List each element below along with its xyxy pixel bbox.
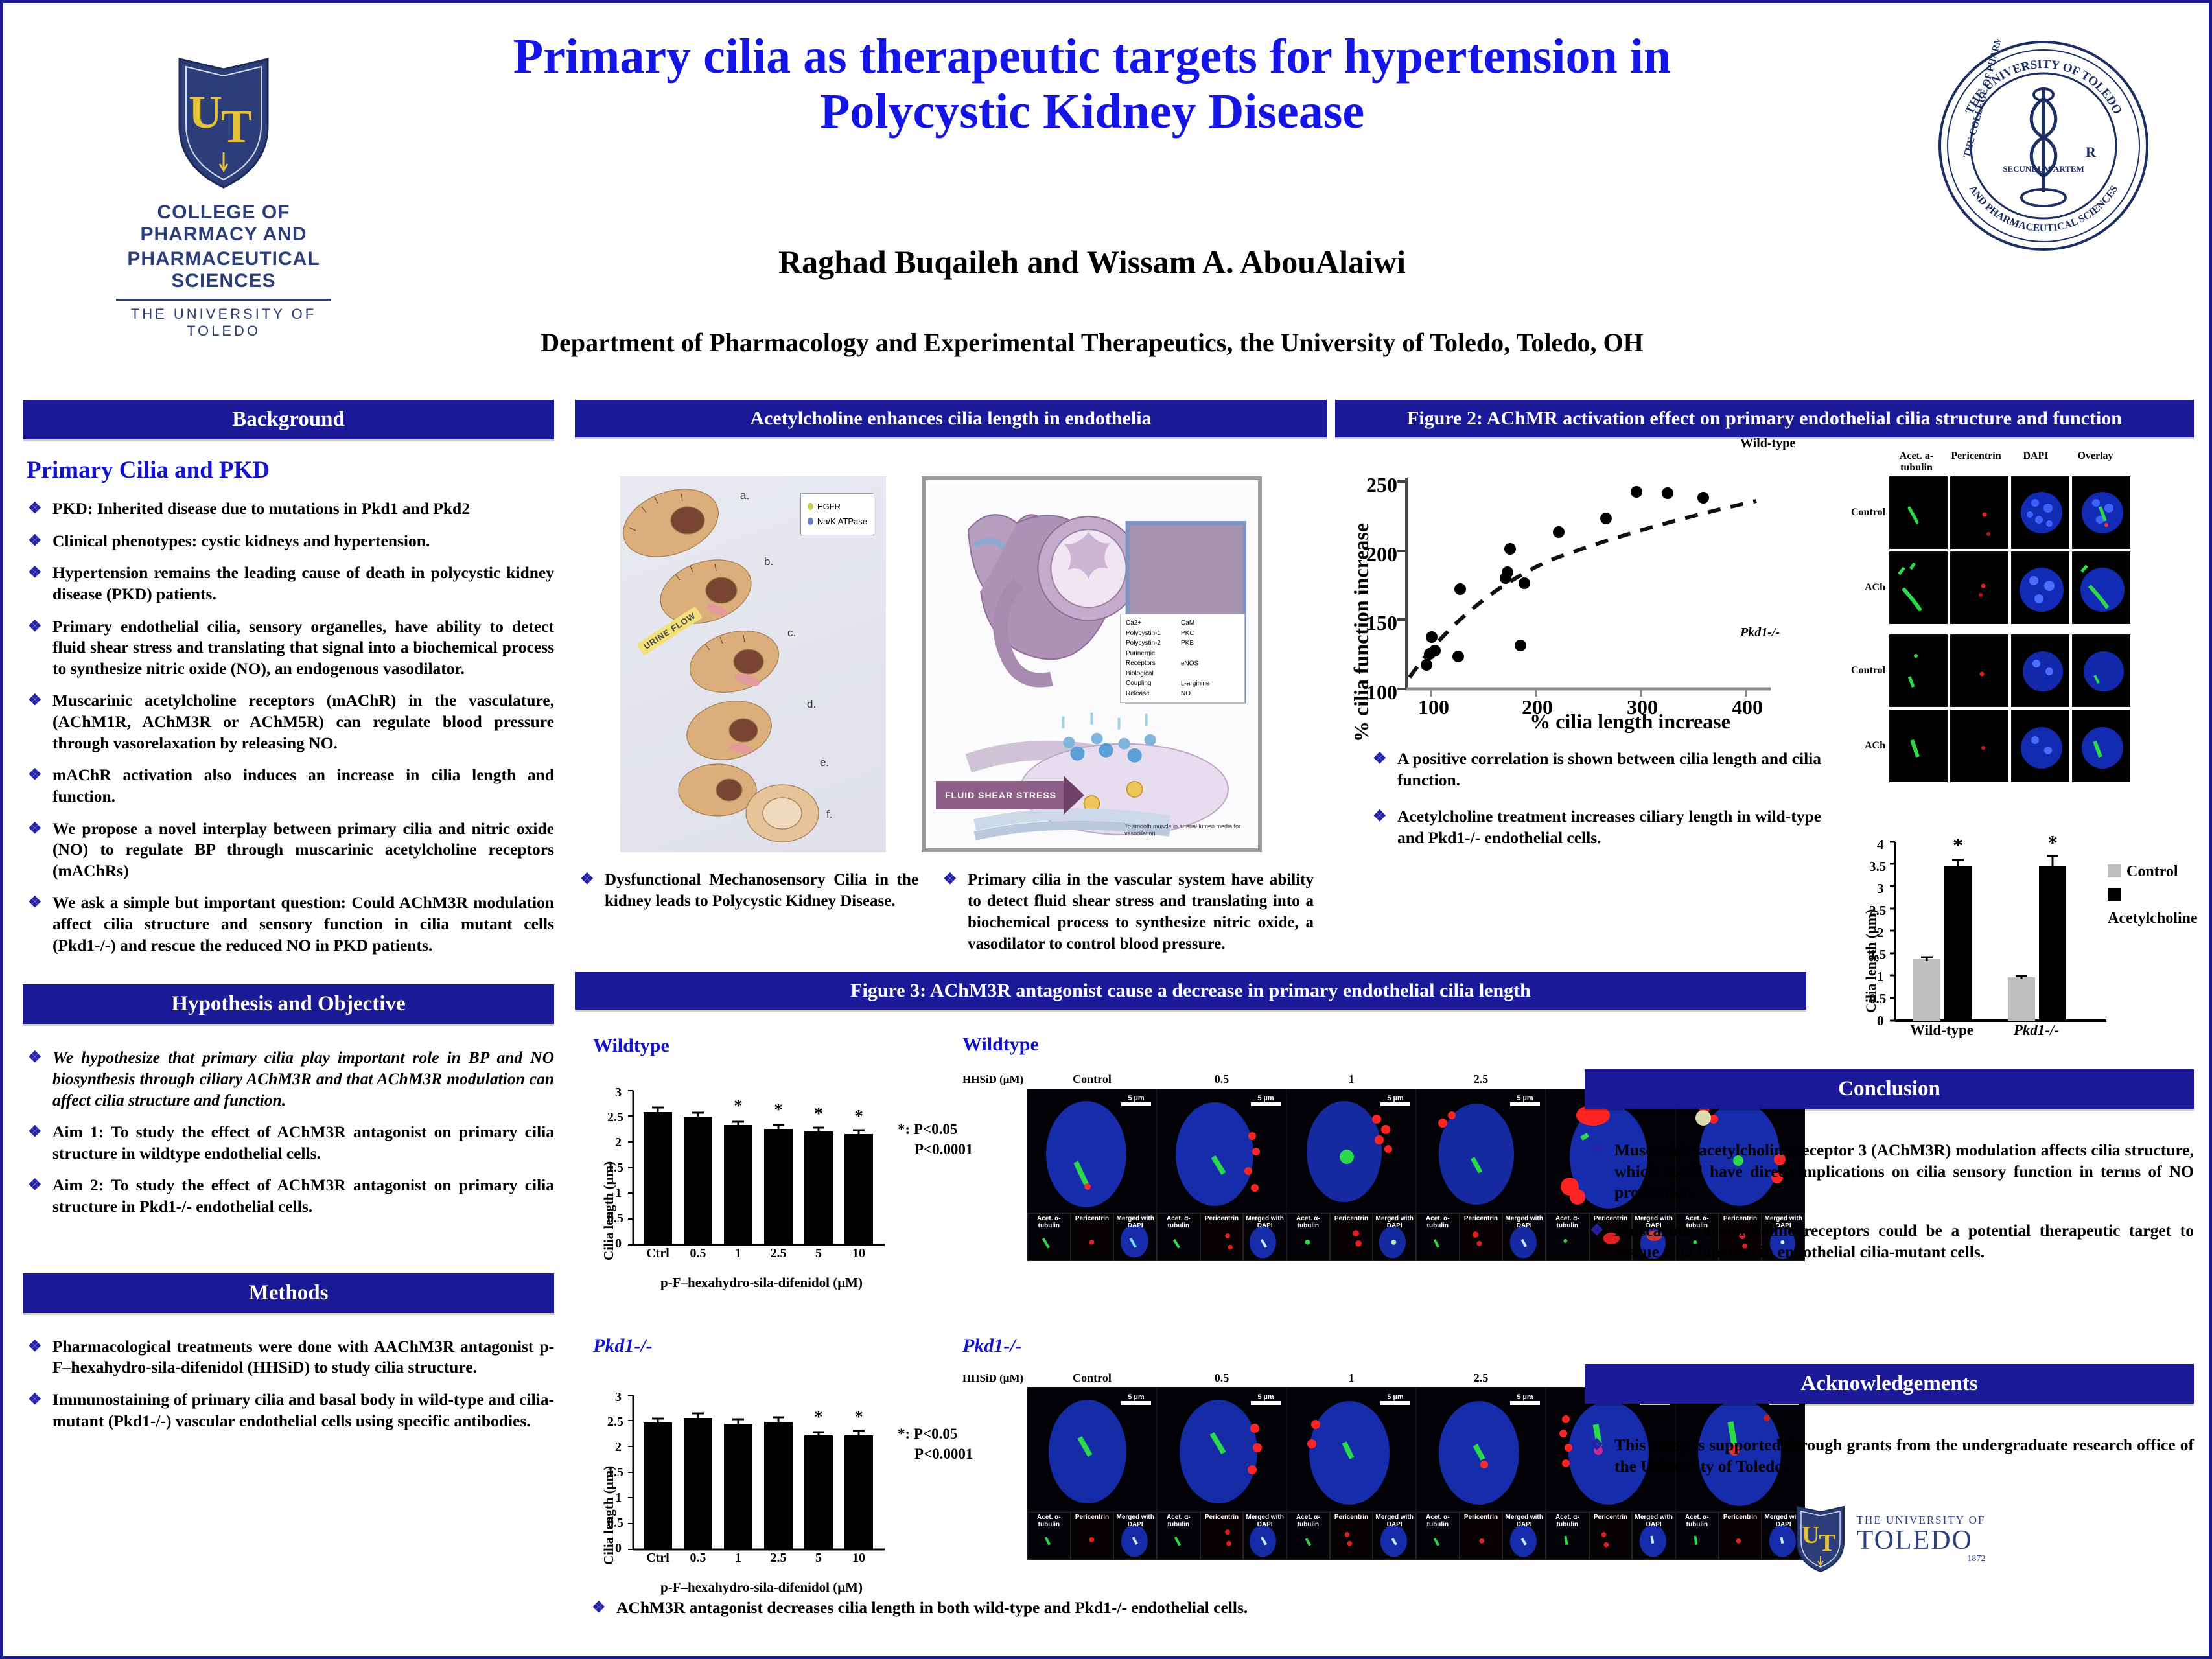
scale-bar: 5 µm (1380, 1393, 1410, 1405)
list-item: Acetylcholine treatment increases ciliar… (1368, 806, 1821, 848)
svg-text:U: U (189, 86, 222, 138)
vessel-caption-list: Primary cilia in the vascular system hav… (938, 869, 1314, 966)
fig2-row-pkd1-ach: ACh (1837, 710, 2136, 782)
svg-text:T: T (1819, 1529, 1835, 1557)
list-item: mAChR activation also induces an increas… (23, 765, 554, 807)
left-column: Background Primary Cilia and PKD PKD: In… (23, 400, 554, 1443)
fig3-pkd1-label: Pkd1-/- (593, 1335, 653, 1357)
bullet-text: Acetylcholine treatment increases ciliar… (1397, 807, 1821, 847)
diamond-bullet-icon (28, 535, 41, 548)
college-line1: COLLEGE OF PHARMACY AND (107, 202, 340, 246)
kidney-caption-list: Dysfunctional Mechanosensory Cilia in th… (575, 869, 918, 966)
fig3-micro-wt-label: Wildtype (962, 1034, 1831, 1056)
subpanel-tubulin: Acet. α-tubulin (1286, 1512, 1330, 1560)
conclusion-section: Conclusion Muscarinic acetylcholine rece… (1585, 1069, 2194, 1273)
middle-column: Acetylcholine enhances cilia length in e… (575, 400, 1327, 966)
dose-header-2-5: 2.5 (1416, 1371, 1546, 1385)
micro-cell (2011, 551, 2069, 624)
fig3-wt-panel-group: 5 µm Acet. α-tubulin Pericentrin Merged … (1157, 1089, 1286, 1261)
legend-row: Polycystin-2PKB (1126, 638, 1239, 649)
bullet-text: Dysfunctional Mechanosensory Cilia in th… (605, 871, 918, 910)
authors: Raghad Buqaileh and Wissam A. AbouAlaiwi (340, 243, 1844, 281)
xtick-0-5: 0.5 (684, 1551, 712, 1566)
col-header-dapi: DAPI (2007, 450, 2064, 474)
micro-cell-main: 5 µm (1286, 1089, 1416, 1213)
legend-row: Ca2+CaM (1126, 618, 1239, 629)
diamond-bullet-icon (28, 1051, 41, 1064)
micro-cell-main: 5 µm (1157, 1089, 1286, 1213)
micro-cell (1889, 710, 1948, 782)
micro-cell (2072, 551, 2130, 624)
subpanel-tubulin: Acet. α-tubulin (1546, 1512, 1589, 1560)
xtick-5: 5 (804, 1246, 833, 1261)
naK-atpase-marker-icon (808, 518, 813, 525)
page-title: Primary cilia as therapeutic targets for… (340, 29, 1844, 139)
subpanel-merged: Merged with DAPI (1113, 1213, 1157, 1261)
diamond-bullet-icon (28, 694, 41, 707)
subpanel-tubulin: Acet. α-tubulin (1157, 1213, 1200, 1261)
xtick-10: 10 (844, 1246, 873, 1261)
bullet-text: Muscarinic acetylcholine receptors could… (1614, 1221, 2194, 1261)
dose-header-0-5: 0.5 (1157, 1371, 1286, 1385)
dose-header-control: Control (1027, 1073, 1157, 1086)
pvalue-line-1: *: P<0.05 (898, 1424, 973, 1444)
subpanel-pericentrin: Pericentrin (1200, 1213, 1244, 1261)
fig3-pkd1-subpanels: Acet. α-tubulin Pericentrin Merged with … (1027, 1512, 1157, 1560)
diamond-bullet-icon (592, 1601, 605, 1614)
diamond-bullet-icon (28, 1393, 41, 1406)
scale-bar: 5 µm (1121, 1095, 1151, 1106)
subpanel-merged: Merged with DAPI (1373, 1213, 1416, 1261)
micro-cell-main: 5 µm (1027, 1089, 1157, 1213)
bullet-text: Immunostaining of primary cilia and basa… (52, 1390, 554, 1430)
diamond-bullet-icon (28, 502, 41, 515)
fig2-row-pkd1-control: Control (1837, 634, 2136, 707)
legend-swatch-control (2108, 864, 2121, 877)
fig3-pkd1-panel-group: 5 µm Acet. α-tubulin Pericentrin Merged … (1157, 1387, 1286, 1560)
bullet-text: Primary cilia in the vascular system hav… (968, 871, 1314, 953)
title-line-2: Polycystic Kidney Disease (820, 84, 1364, 139)
list-item: Primary endothelial cilia, sensory organ… (23, 616, 554, 680)
scale-bar: 5 µm (1121, 1393, 1151, 1405)
xtick-2-5: 2.5 (764, 1246, 793, 1261)
title-line-1: Primary cilia as therapeutic targets for… (513, 29, 1671, 84)
subpanel-merged: Merged with DAPI (1113, 1512, 1157, 1560)
footer-logo-line2: TOLEDO (1857, 1527, 1986, 1554)
list-item: Aim 2: To study the effect of AChM3R ant… (23, 1175, 554, 1217)
vessel-figure-footnote: To smooth muscle in arterial lumen media… (1124, 823, 1248, 838)
diamond-bullet-icon (28, 1340, 41, 1353)
micro-cell-main: 5 µm (1027, 1387, 1157, 1512)
department-affiliation: Department of Pharmacology and Experimen… (275, 327, 1909, 358)
legend-item-acetylcholine: Acetylcholine (2108, 883, 2204, 930)
list-item: Hypertension remains the leading cause o… (23, 563, 554, 605)
diamond-bullet-icon (28, 896, 41, 909)
ach-figures: URINE FLOW EGFR Na/K ATPase a. b. c. d. … (575, 437, 1327, 865)
panel-label-a: a. (740, 489, 749, 502)
panel-label-b: b. (764, 555, 773, 568)
fig2-microscopy-grid: Wild-type Acet. a-tubulin Pericentrin DA… (1837, 450, 2136, 782)
logo-divider (116, 299, 331, 301)
svg-text:U: U (1802, 1522, 1819, 1549)
micro-cell (2011, 710, 2069, 782)
background-bullet-list: PKD: Inherited disease due to mutations … (23, 498, 554, 956)
diamond-bullet-icon (1590, 1439, 1603, 1452)
fig2-group-label-pkd1: Pkd1-/- (1740, 625, 1780, 640)
section-bar-hypothesis: Hypothesis and Objective (23, 984, 554, 1024)
dose-header-control: Control (1027, 1371, 1157, 1385)
micro-cell-main: 5 µm (1157, 1387, 1286, 1512)
diamond-bullet-icon (1590, 1144, 1603, 1157)
fig3-pkd1-panel-group: 5 µm Acet. α-tubulin Pericentrin Merged … (1286, 1387, 1416, 1560)
diamond-bullet-icon (1373, 810, 1386, 823)
svg-text:*: * (854, 1407, 863, 1426)
micro-cell-main: 5 µm (1416, 1089, 1546, 1213)
college-logo: U T COLLEGE OF PHARMACY AND PHARMACEUTIC… (107, 55, 340, 340)
section-bar-conclusion: Conclusion (1585, 1069, 2194, 1109)
university-seal-icon: THE UNIVERSITY OF TOLEDO AND PHARMACEUTI… (1937, 39, 2150, 253)
diamond-bullet-icon (1373, 752, 1386, 765)
row-label-control: Control (1837, 507, 1889, 518)
xtick-1: 1 (724, 1246, 752, 1261)
scale-bar: 5 µm (1251, 1393, 1281, 1405)
micro-cell (1950, 634, 2008, 707)
fig3-wt-subpanels: Acet. α-tubulin Pericentrin Merged with … (1157, 1213, 1286, 1261)
fig2-bar-chart: Cilia length (μm) 4 3.5 3 2.5 2 1.5 1 0.… (1854, 818, 2204, 1039)
fig3-wt-xlabel: p-F–hexahydro-sila-difenidol (μM) (612, 1275, 911, 1291)
dose-header-1: 1 (1286, 1371, 1416, 1385)
fig3-pkd1-pvalue-note: *: P<0.05 P<0.0001 (898, 1424, 973, 1464)
section-bar-acknowledgements: Acknowledgements (1585, 1364, 2194, 1404)
col-header-tubulin: Acet. a-tubulin (1888, 450, 1945, 474)
list-item: PKD: Inherited disease due to mutations … (23, 498, 554, 520)
bullet-text: Aim 2: To study the effect of AChM3R ant… (52, 1176, 554, 1216)
micro-cell (2072, 476, 2130, 549)
fig3-wt-canvas: * * * * (587, 1073, 937, 1260)
list-item: We hypothesize that primary cilia play i… (23, 1047, 554, 1111)
scale-bar: 5 µm (1510, 1393, 1540, 1405)
subpanel-tubulin: Acet. α-tubulin (1546, 1213, 1589, 1261)
xtick-0-5: 0.5 (684, 1246, 712, 1261)
list-item: Primary cilia in the vascular system hav… (938, 869, 1314, 955)
panel-label-c: c. (787, 627, 796, 640)
micro-cell (2072, 710, 2130, 782)
section-bar-background: Background (23, 400, 554, 439)
legend-item-control: Control (2108, 860, 2204, 883)
kidney-figure-legend: EGFR Na/K ATPase (800, 493, 874, 535)
bullet-text: We hypothesize that primary cilia play i… (52, 1048, 554, 1109)
fig2-row-wt-ach: ACh (1837, 551, 2136, 624)
dose-header-2-5: 2.5 (1416, 1073, 1546, 1086)
legend-row: Biological CouplingL-arginine (1126, 669, 1239, 689)
dose-header-1: 1 (1286, 1073, 1416, 1086)
bullet-text: Hypertension remains the leading cause o… (52, 563, 554, 603)
xtick-ctrl: Ctrl (644, 1246, 672, 1261)
footer-logo-line1: THE UNIVERSITY OF (1857, 1514, 1986, 1527)
subpanel-tubulin: Acet. α-tubulin (1027, 1213, 1071, 1261)
xtick-2-5: 2.5 (764, 1551, 793, 1566)
fig3-pkd1-subpanels: Acet. α-tubulin Pericentrin Merged with … (1416, 1512, 1546, 1560)
bullet-text: mAChR activation also induces an increas… (52, 765, 554, 806)
diamond-bullet-icon (580, 873, 593, 886)
hypothesis-bullet-list: We hypothesize that primary cilia play i… (23, 1047, 554, 1217)
diamond-bullet-icon (28, 1126, 41, 1139)
pvalue-line-1: *: P<0.05 (898, 1119, 973, 1139)
svg-text:*: * (774, 1100, 783, 1119)
subpanel-pericentrin: Pericentrin (1330, 1512, 1373, 1560)
svg-text:*: * (814, 1104, 823, 1123)
fig3-wt-subpanels: Acet. α-tubulin Pericentrin Merged with … (1416, 1213, 1546, 1261)
col-header-pericentrin: Pericentrin (1948, 450, 2005, 474)
fig2-group-label-wildtype: Wild-type (1740, 436, 1795, 451)
fig3-pkd1-panel-group: 5 µm Acet. α-tubulin Pericentrin Merged … (1027, 1387, 1157, 1560)
vessel-illustration-canvas: FLUID SHEAR STRESS Ca2+CaM Polycystin-1P… (929, 484, 1254, 844)
fig3-wt-pvalue-note: *: P<0.05 P<0.0001 (898, 1119, 973, 1159)
diamond-bullet-icon (28, 1179, 41, 1192)
subpanel-merged: Merged with DAPI (1243, 1512, 1286, 1560)
subpanel-pericentrin: Pericentrin (1330, 1213, 1373, 1261)
bullet-text: A positive correlation is shown between … (1397, 749, 1821, 789)
row-label-ach: ACh (1837, 582, 1889, 594)
fig3-caption-list: AChM3R antagonist decreases cilia length… (587, 1597, 1559, 1630)
micro-cell (1889, 476, 1948, 549)
diamond-bullet-icon (28, 769, 41, 782)
svg-text:*: * (2047, 831, 2058, 854)
col-header-overlay: Overlay (2067, 450, 2124, 474)
list-item: AChM3R antagonist decreases cilia length… (587, 1597, 1559, 1619)
micro-cell (1950, 551, 2008, 624)
subpanel-tubulin: Acet. α-tubulin (1157, 1512, 1200, 1560)
list-item: Muscarinic acetylcholine receptors could… (1585, 1220, 2194, 1262)
hhsid-axis-label: HHSiD (μM) (962, 1073, 1027, 1086)
fig3-wildtype-label: Wildtype (593, 1035, 669, 1057)
hhsid-axis-label: HHSiD (μM) (962, 1372, 1027, 1385)
conclusion-bullet-list: Muscarinic acetylcholine receptor 3 (ACh… (1585, 1140, 2194, 1262)
micro-cell (1950, 710, 2008, 782)
fig3-wildtype-bar-chart: Cilia length (μm) 3 2.5 2 1.5 1 0.5 0 * (587, 1073, 937, 1286)
section-bar-methods: Methods (23, 1273, 554, 1313)
subpanel-tubulin: Acet. α-tubulin (1416, 1512, 1460, 1560)
micro-cell-main: 5 µm (1416, 1387, 1546, 1512)
fig2-bar-xtick-pkd1: Pkd1-/- (2003, 1022, 2070, 1039)
subpanel-tubulin: Acet. α-tubulin (1416, 1213, 1460, 1261)
fig2-row-wt-control: Control (1837, 476, 2136, 549)
list-item: Pharmacological treatments were done wit… (23, 1336, 554, 1378)
legend-row: Purinergic ReceptorseNOS (1126, 649, 1239, 669)
ut-shield-icon-small: U T (1793, 1504, 1848, 1574)
legend-row: ReleaseNO (1126, 689, 1239, 699)
list-item: Muscarinic acetylcholine receptor 3 (ACh… (1585, 1140, 2194, 1203)
methods-bullet-list: Pharmacological treatments were done wit… (23, 1336, 554, 1432)
svg-text:*: * (814, 1407, 823, 1426)
legend-entry: EGFR (808, 499, 867, 514)
subpanel-pericentrin: Pericentrin (1071, 1512, 1114, 1560)
section-bar-acetylcholine: Acetylcholine enhances cilia length in e… (575, 400, 1327, 437)
section-bar-figure3: Figure 3: AChM3R antagonist cause a decr… (575, 972, 1806, 1010)
fig3-wt-panel-group: 5 µm Acet. α-tubulin Pericentrin Merged … (1286, 1089, 1416, 1261)
bullet-text: We propose a novel interplay between pri… (52, 819, 554, 880)
panel-label-d: d. (807, 698, 816, 711)
fig3-pkd1-panel-group: 5 µm Acet. α-tubulin Pericentrin Merged … (1416, 1387, 1546, 1560)
bullet-text: Muscarinic acetylcholine receptor 3 (ACh… (1614, 1141, 2194, 1201)
subpanel-merged: Merged with DAPI (1502, 1512, 1546, 1560)
ut-shield-icon: U T (172, 55, 275, 191)
micro-cell-main: 5 µm (1286, 1387, 1416, 1512)
legend-swatch-acetylcholine (2108, 888, 2121, 901)
bullet-text: Aim 1: To study the effect of AChM3R ant… (52, 1122, 554, 1163)
footer-logo-year: 1872 (1857, 1554, 1986, 1564)
subpanel-merged: Merged with DAPI (1502, 1213, 1546, 1261)
micro-cell (1950, 476, 2008, 549)
list-item: This study is supported through grants f… (1585, 1435, 2194, 1477)
micro-cell (2011, 634, 2069, 707)
acknowledgements-bullet-list: This study is supported through grants f… (1585, 1435, 2194, 1477)
background-subheading: Primary Cilia and PKD (27, 456, 554, 484)
bullet-text: We ask a simple but important question: … (52, 893, 554, 954)
ach-caption-row: Dysfunctional Mechanosensory Cilia in th… (575, 869, 1327, 966)
vessel-figure-legend: Ca2+CaM Polycystin-1PKC Polycystin-2PKB … (1120, 614, 1245, 703)
list-item: Muscarinic acetylcholine receptors (mACh… (23, 690, 554, 754)
panel-label-e: e. (820, 756, 829, 769)
footer-toledo-logo: U T THE UNIVERSITY OF TOLEDO 1872 (1585, 1504, 2194, 1574)
micro-cell (2011, 476, 2069, 549)
fig2-bar-legend: Control Acetylcholine (2108, 860, 2204, 930)
xtick-5: 5 (804, 1551, 833, 1566)
fig3-pkd1-subpanels: Acet. α-tubulin Pericentrin Merged with … (1286, 1512, 1416, 1560)
fluid-shear-stress-arrow: FLUID SHEAR STRESS (936, 781, 1065, 809)
svg-text:*: * (734, 1096, 743, 1115)
xtick-1: 1 (724, 1551, 752, 1566)
micro-cell (2072, 634, 2130, 707)
fig3-pkd1-bar-chart: Cilia length (μm) 3 2.5 2 1.5 1 0.5 0 (587, 1377, 937, 1591)
list-item: Clinical phenotypes: cystic kidneys and … (23, 531, 554, 552)
list-item: We propose a novel interplay between pri… (23, 818, 554, 882)
bullet-text: Primary endothelial cilia, sensory organ… (52, 617, 554, 678)
fig3-wt-panel-group: 5 µm Acet. α-tubulin Pericentrin Merged … (1027, 1089, 1157, 1261)
diamond-bullet-icon (943, 873, 956, 886)
fig3-pkd1-xlabel: p-F–hexahydro-sila-difenidol (μM) (612, 1579, 911, 1595)
xtick-ctrl: Ctrl (644, 1551, 672, 1566)
poster-root: U T COLLEGE OF PHARMACY AND PHARMACEUTIC… (0, 0, 2212, 1659)
svg-text:T: T (221, 100, 252, 152)
list-item: We ask a simple but important question: … (23, 892, 554, 956)
bullet-text: Muscarinic acetylcholine receptors (mACh… (52, 691, 554, 752)
fig2-bar-xtick-wildtype: Wild-type (1908, 1022, 1975, 1039)
bullet-text: AChM3R antagonist decreases cilia length… (616, 1598, 1248, 1617)
fig3-micro-pkd1-label: Pkd1-/- (962, 1335, 1831, 1357)
subpanel-tubulin: Acet. α-tubulin (1027, 1512, 1071, 1560)
micro-cell (1889, 551, 1948, 624)
diamond-bullet-icon (28, 620, 41, 633)
list-item: Aim 1: To study the effect of AChM3R ant… (23, 1122, 554, 1164)
xtick-10: 10 (844, 1551, 873, 1566)
fig3-wt-subpanels: Acet. α-tubulin Pericentrin Merged with … (1286, 1213, 1416, 1261)
list-item: Dysfunctional Mechanosensory Cilia in th… (575, 869, 918, 912)
dose-header-0-5: 0.5 (1157, 1073, 1286, 1086)
svg-text:R: R (2086, 144, 2097, 160)
bullet-text: Clinical phenotypes: cystic kidneys and … (52, 531, 430, 550)
svg-text:SECUNDUM ARTEM: SECUNDUM ARTEM (2003, 164, 2084, 174)
svg-text:*: * (1953, 833, 1963, 857)
diamond-bullet-icon (28, 566, 41, 579)
fig3-pkd1-canvas: * * (587, 1377, 937, 1565)
subpanel-merged: Merged with DAPI (1243, 1213, 1286, 1261)
kidney-cilia-illustration: URINE FLOW EGFR Na/K ATPase a. b. c. d. … (620, 476, 886, 852)
scale-bar: 5 µm (1251, 1095, 1281, 1106)
poster-header: U T COLLEGE OF PHARMACY AND PHARMACEUTIC… (3, 3, 2209, 382)
diamond-bullet-icon (1590, 1224, 1603, 1237)
subpanel-pericentrin: Pericentrin (1460, 1512, 1503, 1560)
fig3-wt-panel-group: 5 µm Acet. α-tubulin Pericentrin Merged … (1416, 1089, 1546, 1261)
college-line2: PHARMACEUTICAL SCIENCES (107, 248, 340, 292)
panel-label-f: f. (826, 808, 832, 821)
subpanel-tubulin: Acet. α-tubulin (1286, 1213, 1330, 1261)
fig2-bullet-list: A positive correlation is shown between … (1368, 748, 1821, 849)
svg-text:*: * (854, 1106, 863, 1126)
egfr-marker-icon (808, 503, 813, 510)
diamond-bullet-icon (28, 822, 41, 835)
figure3-section: Figure 3: AChM3R antagonist cause a decr… (575, 972, 1806, 1010)
legend-row: Polycystin-1PKC (1126, 629, 1239, 639)
bullet-text: This study is supported through grants f… (1614, 1435, 2194, 1476)
row-label-control: Control (1837, 665, 1889, 677)
fig2-scatter-canvas (1335, 437, 1828, 710)
micro-cell (1889, 634, 1948, 707)
list-item: A positive correlation is shown between … (1368, 748, 1821, 791)
scale-bar: 5 µm (1510, 1095, 1540, 1106)
list-item: Immunostaining of primary cilia and basa… (23, 1389, 554, 1432)
fig2-bar-canvas: * * (1854, 818, 2204, 1042)
subpanel-pericentrin: Pericentrin (1200, 1512, 1244, 1560)
vascular-shear-stress-illustration: FLUID SHEAR STRESS Ca2+CaM Polycystin-1P… (922, 476, 1262, 852)
row-label-ach: ACh (1837, 740, 1889, 752)
footer-logo-text: THE UNIVERSITY OF TOLEDO 1872 (1857, 1514, 1986, 1564)
legend-entry: Na/K ATPase (808, 514, 867, 529)
subpanel-pericentrin: Pericentrin (1460, 1213, 1503, 1261)
fig2-column-headers: Acet. a-tubulin Pericentrin DAPI Overlay (1888, 450, 2136, 474)
subpanel-merged: Merged with DAPI (1373, 1512, 1416, 1560)
subpanel-pericentrin: Pericentrin (1071, 1213, 1114, 1261)
fig3-pkd1-subpanels: Acet. α-tubulin Pericentrin Merged with … (1157, 1512, 1286, 1560)
bullet-text: Pharmacological treatments were done wit… (52, 1337, 554, 1377)
acknowledgements-section: Acknowledgements This study is supported… (1585, 1364, 2194, 1574)
bullet-text: PKD: Inherited disease due to mutations … (52, 499, 470, 518)
scale-bar: 5 µm (1380, 1095, 1410, 1106)
fig3-wt-subpanels: Acet. α-tubulin Pericentrin Merged with … (1027, 1213, 1157, 1261)
section-bar-figure2: Figure 2: AChMR activation effect on pri… (1335, 400, 2194, 437)
